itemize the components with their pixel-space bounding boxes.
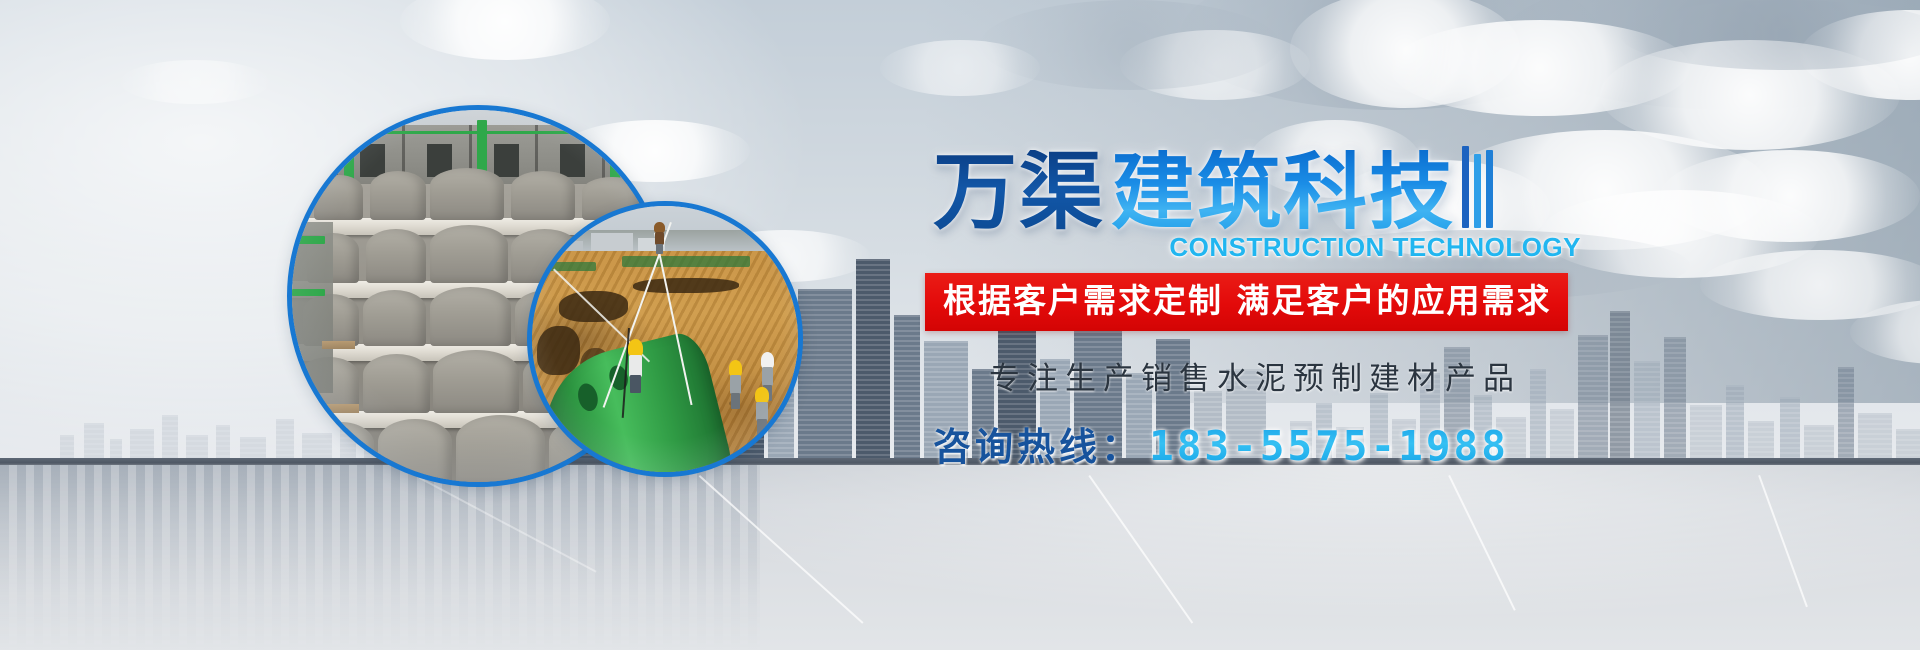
brand-bars-icon: [1462, 146, 1493, 234]
photo-septic-tank-installation: [532, 206, 798, 472]
hotline-number[interactable]: 183-5575-1988: [1149, 422, 1509, 470]
promo-banner: 万渠 建筑科技 CONSTRUCTION TECHNOLOGY 根据客户需求定制…: [0, 0, 1920, 650]
hotline-row: 咨询热线： 183-5575-1988: [933, 416, 1625, 471]
banner-text-content: 万渠 建筑科技 CONSTRUCTION TECHNOLOGY 根据客户需求定制…: [925, 130, 1625, 471]
brand-name-secondary: 建筑科技: [1111, 150, 1455, 234]
hotline-label: 咨询热线：: [933, 416, 1143, 471]
floor-haze: [0, 465, 1920, 650]
brand-title-row: 万渠 建筑科技: [933, 130, 1625, 234]
tagline-text: 专注生产销售水泥预制建材产品: [989, 353, 1625, 398]
brand-name-primary: 万渠: [933, 150, 1105, 234]
red-banner-wrap: 根据客户需求定制 满足客户的应用需求: [925, 263, 1625, 331]
plaza-floor: [0, 465, 1920, 650]
red-banner-text: 根据客户需求定制 满足客户的应用需求: [925, 273, 1568, 331]
